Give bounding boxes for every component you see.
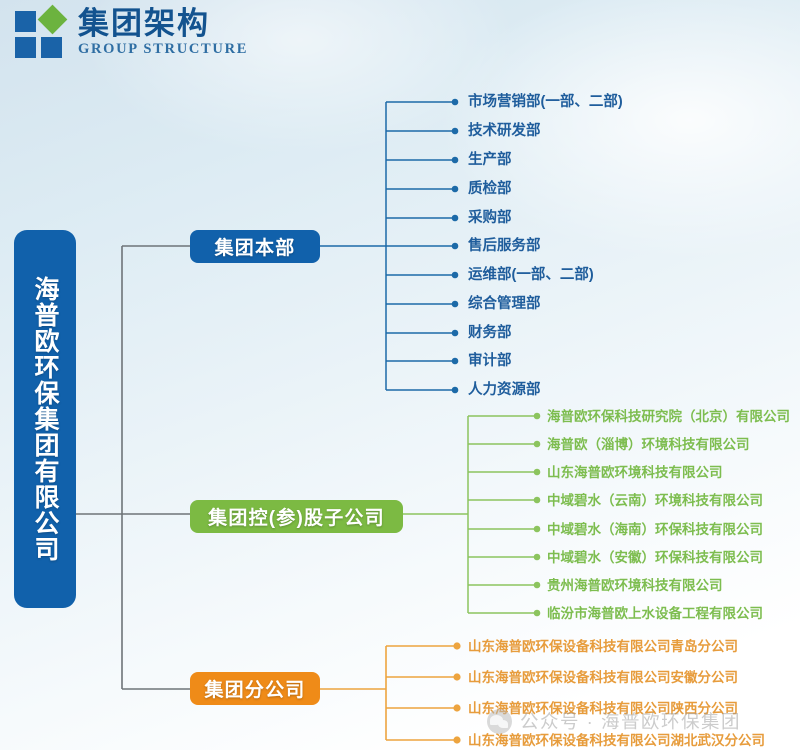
headquarters-connectors bbox=[320, 102, 452, 390]
list-item[interactable]: 山东海普欧环保设备科技有限公司湖北武汉分公司 bbox=[468, 734, 765, 748]
list-item[interactable]: 审计部 bbox=[468, 354, 512, 369]
branch-offices-connectors bbox=[320, 646, 454, 740]
list-item[interactable]: 山东海普欧环境科技有限公司 bbox=[547, 466, 723, 480]
branch-node-branch-offices-label: 集团分公司 bbox=[204, 675, 305, 702]
wechat-icon bbox=[487, 709, 512, 734]
page-header: 集团架构 GROUP STRUCTURE bbox=[14, 6, 248, 58]
root-node-label: 海普欧环保集团有限公司 bbox=[29, 276, 61, 562]
list-item[interactable]: 中域碧水（云南）环境科技有限公司 bbox=[547, 494, 763, 508]
org-chart-canvas: 集团架构 GROUP STRUCTURE bbox=[0, 0, 800, 750]
connector-lines bbox=[0, 0, 800, 750]
branch-node-subsidiaries-label: 集团控(参)股子公司 bbox=[208, 503, 385, 530]
four-squares-logo-icon bbox=[14, 6, 66, 58]
list-item[interactable]: 售后服务部 bbox=[468, 239, 541, 254]
page-title-en: GROUP STRUCTURE bbox=[78, 42, 248, 57]
list-item[interactable]: 临汾市海普欧上水设备工程有限公司 bbox=[547, 607, 763, 621]
trunk-connectors bbox=[76, 246, 190, 689]
list-item[interactable]: 运维部(一部、二部) bbox=[468, 268, 594, 283]
subsidiaries-connectors bbox=[403, 416, 534, 613]
branch-offices-dots bbox=[453, 642, 460, 743]
list-item[interactable]: 海普欧（淄博）环境科技有限公司 bbox=[547, 438, 750, 452]
list-item[interactable]: 中域碧水（安徽）环保科技有限公司 bbox=[547, 551, 763, 565]
page-title-group: 集团架构 GROUP STRUCTURE bbox=[78, 8, 248, 57]
logo-diamond-green bbox=[38, 5, 68, 35]
list-item[interactable]: 中域碧水（海南）环保科技有限公司 bbox=[547, 523, 763, 537]
branch-node-headquarters[interactable]: 集团本部 bbox=[190, 230, 320, 263]
root-node-company[interactable]: 海普欧环保集团有限公司 bbox=[14, 230, 76, 608]
list-item[interactable]: 技术研发部 bbox=[468, 124, 541, 139]
list-item[interactable]: 生产部 bbox=[468, 153, 512, 168]
list-item[interactable]: 山东海普欧环保设备科技有限公司安徽分公司 bbox=[468, 671, 738, 685]
list-item[interactable]: 海普欧环保科技研究院（北京）有限公司 bbox=[547, 410, 790, 424]
list-item[interactable]: 财务部 bbox=[468, 326, 512, 341]
list-item[interactable]: 山东海普欧环保设备科技有限公司青岛分公司 bbox=[468, 640, 738, 654]
watermark: 公众号 · 海普欧环保集团 bbox=[487, 708, 741, 734]
branch-node-subsidiaries[interactable]: 集团控(参)股子公司 bbox=[190, 500, 403, 533]
logo-square-bottom-right bbox=[41, 37, 62, 58]
list-item[interactable]: 采购部 bbox=[468, 211, 512, 226]
list-item[interactable]: 市场营销部(一部、二部) bbox=[468, 95, 623, 110]
list-item[interactable]: 综合管理部 bbox=[468, 297, 541, 312]
page-title-cn: 集团架构 bbox=[78, 8, 248, 39]
logo-square-top-left bbox=[15, 11, 36, 32]
branch-node-headquarters-label: 集团本部 bbox=[215, 233, 296, 260]
headquarters-dots bbox=[452, 99, 459, 394]
watermark-text: 公众号 · 海普欧环保集团 bbox=[520, 708, 741, 734]
list-item[interactable]: 贵州海普欧环境科技有限公司 bbox=[547, 579, 723, 593]
branch-node-branch-offices[interactable]: 集团分公司 bbox=[190, 672, 320, 705]
subsidiaries-dots bbox=[534, 413, 541, 617]
logo-square-bottom-left bbox=[15, 37, 36, 58]
list-item[interactable]: 人力资源部 bbox=[468, 383, 541, 398]
list-item[interactable]: 质检部 bbox=[468, 182, 512, 197]
